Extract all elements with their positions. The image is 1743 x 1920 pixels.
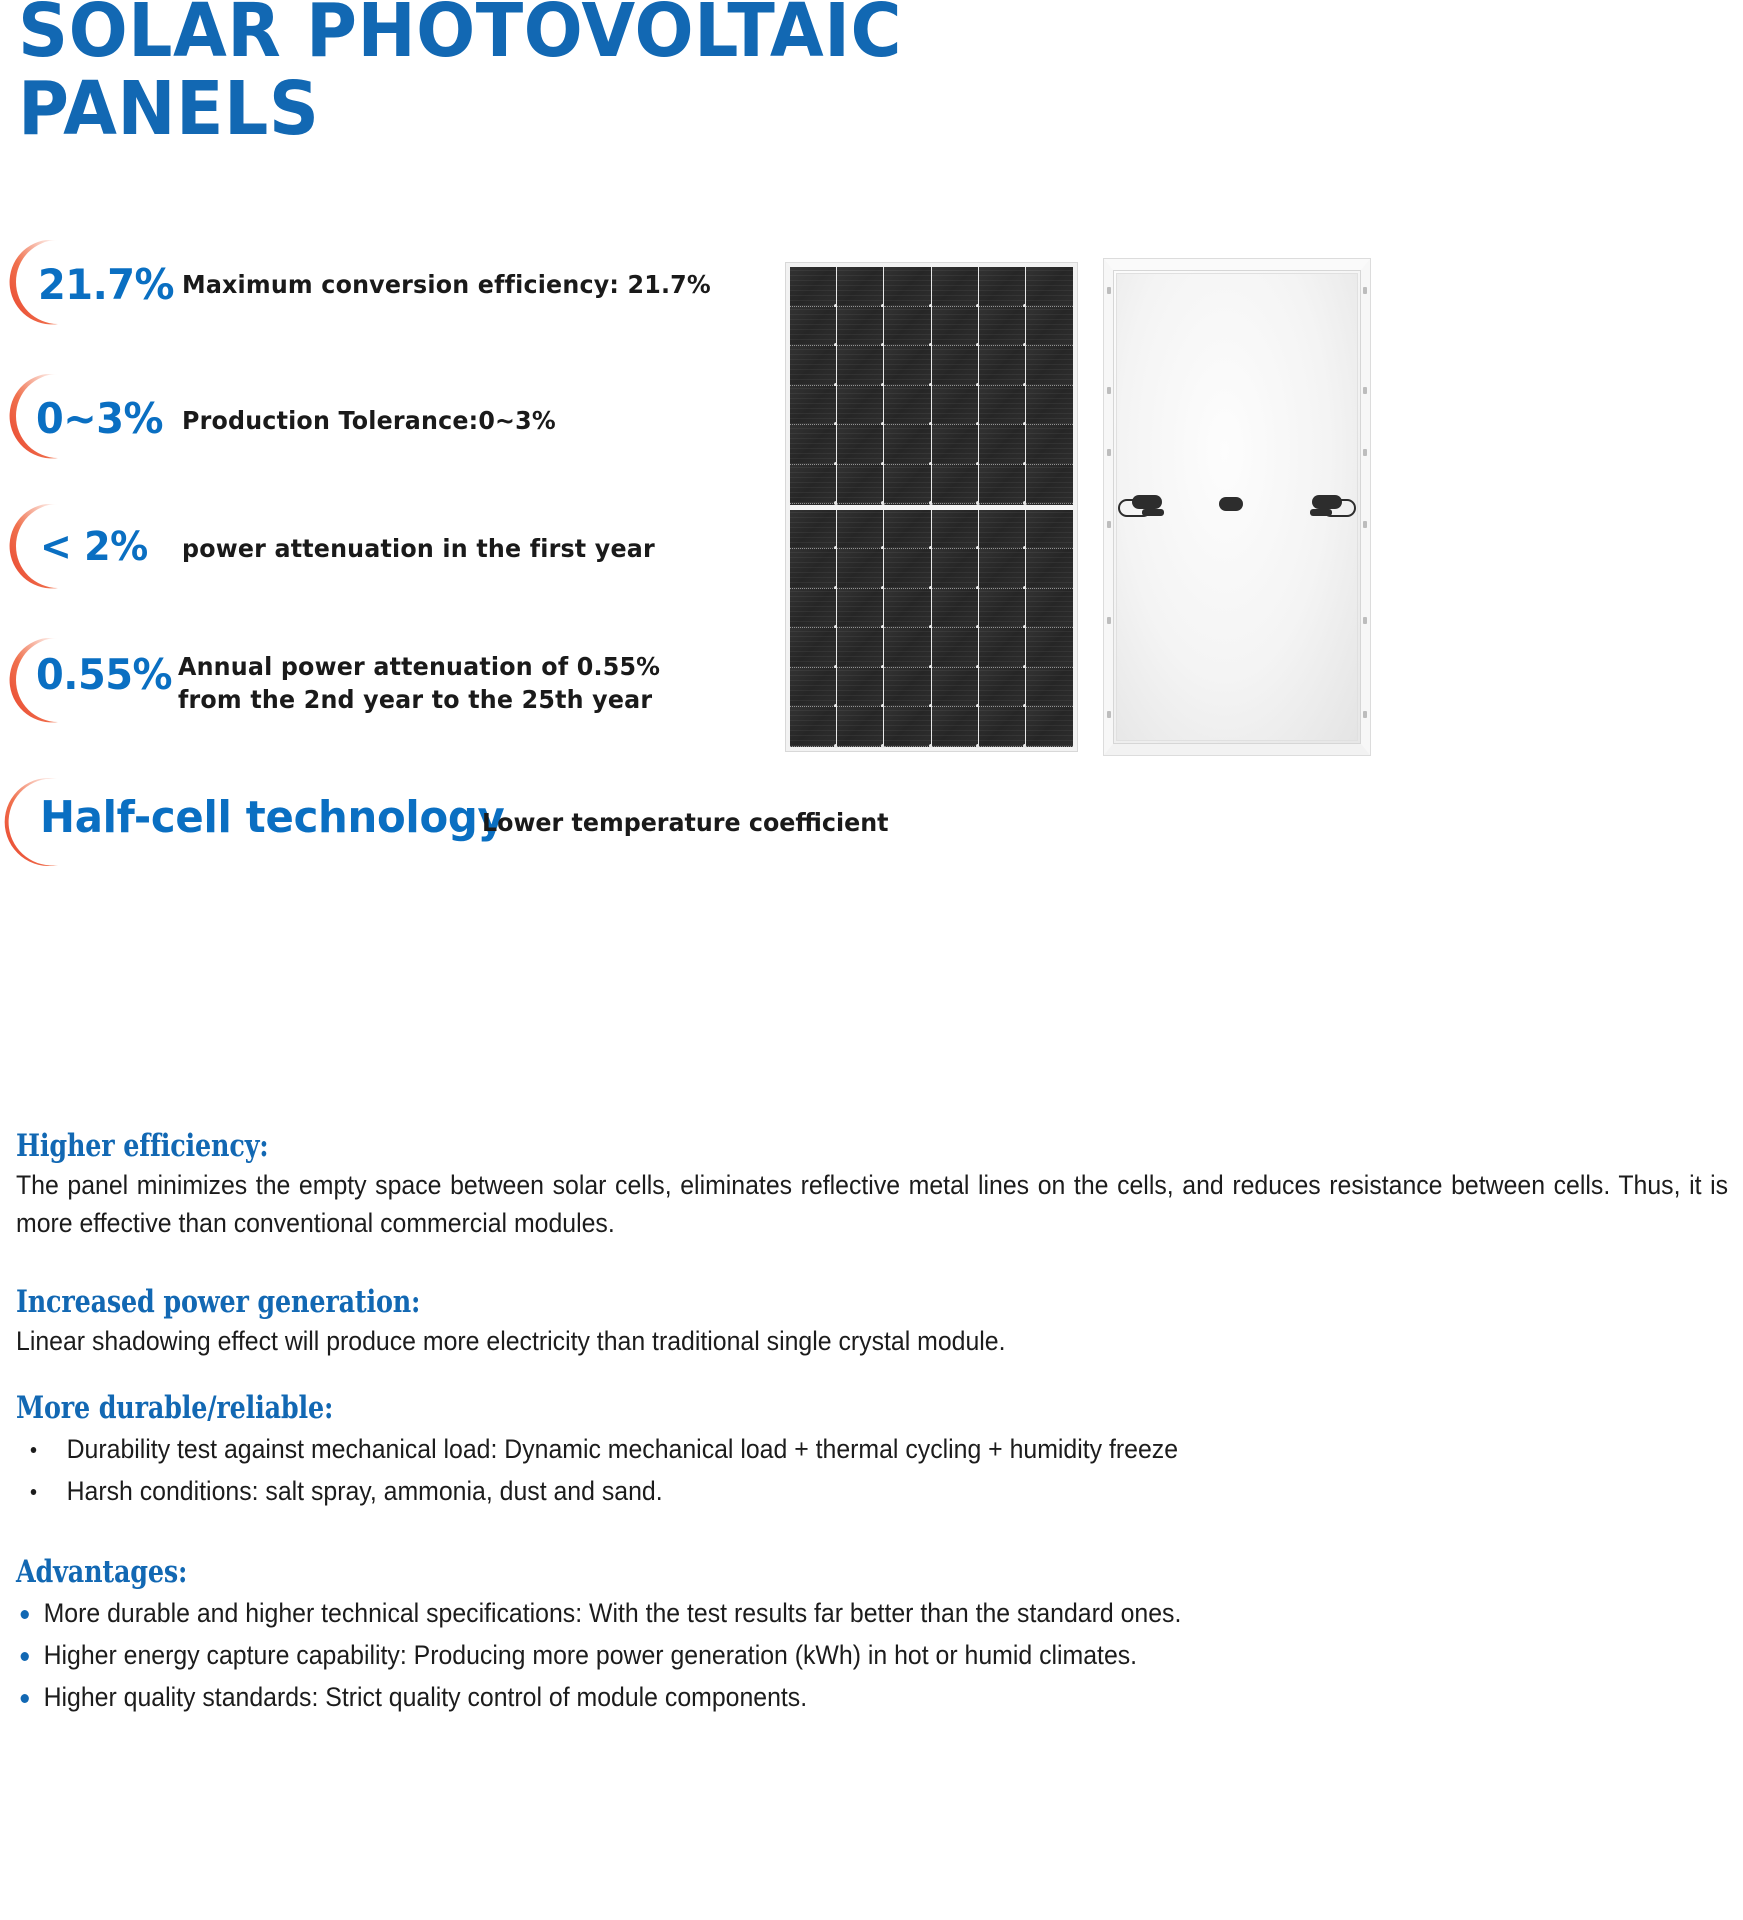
solar-cell <box>884 346 931 386</box>
frame-mounting-hole <box>1363 287 1367 294</box>
solar-cell <box>884 668 931 708</box>
solar-cell <box>932 510 979 550</box>
frame-mounting-hole <box>1107 617 1111 624</box>
junction-box-row <box>1104 491 1370 531</box>
frame-mounting-hole <box>1363 387 1367 394</box>
solar-cell <box>790 549 837 589</box>
solar-cell <box>884 465 931 505</box>
product-datasheet-page: SOLAR PHOTOVOLTAIC PANELS 21.7% Maximum <box>0 0 1743 1920</box>
section-paragraph: Linear shadowing effect will produce mor… <box>16 1322 1728 1360</box>
solar-cell <box>1026 549 1073 589</box>
solar-cell <box>1026 267 1073 307</box>
solar-cell <box>837 307 884 347</box>
section-heading: Higher efficiency: <box>16 1126 1420 1166</box>
solar-cell <box>837 589 884 629</box>
page-title: SOLAR PHOTOVOLTAIC PANELS <box>18 0 958 148</box>
junction-box-right <box>1312 495 1342 509</box>
solar-cell <box>837 346 884 386</box>
list-item: Harsh conditions: salt spray, ammonia, d… <box>16 1470 1728 1512</box>
spacer <box>16 1242 1728 1282</box>
frame-mounting-hole <box>1363 617 1367 624</box>
section-heading: More durable/reliable: <box>16 1388 1420 1428</box>
frame-mounting-hole <box>1107 387 1111 394</box>
solar-cell <box>932 465 979 505</box>
solar-cell <box>837 425 884 465</box>
solar-cell <box>790 465 837 505</box>
solar-cell <box>932 549 979 589</box>
solar-cell <box>837 510 884 550</box>
solar-cell <box>979 386 1026 426</box>
section-higher-efficiency: Higher efficiency: The panel minimizes t… <box>16 1126 1728 1242</box>
mc4-connector-right <box>1310 509 1332 516</box>
spec-value: 0~3% <box>36 394 163 443</box>
solar-cell <box>884 589 931 629</box>
solar-panel-back-image <box>1103 258 1371 756</box>
section-increased-power-generation: Increased power generation: Linear shado… <box>16 1282 1728 1360</box>
durability-bullet-list: Durability test against mechanical load:… <box>16 1428 1728 1512</box>
half-cell-title: Half-cell technology <box>40 792 505 843</box>
spec-value: 21.7% <box>38 260 174 309</box>
features-content: Higher efficiency: The panel minimizes t… <box>16 1126 1728 1718</box>
solar-cell <box>790 510 837 550</box>
panel-bottom-half <box>790 510 1073 748</box>
solar-cell <box>979 465 1026 505</box>
list-item: Higher energy capture capability: Produc… <box>16 1634 1728 1676</box>
solar-cell <box>884 425 931 465</box>
solar-cell <box>1026 589 1073 629</box>
solar-cell <box>979 707 1026 747</box>
section-paragraph: The panel minimizes the empty space betw… <box>16 1166 1728 1242</box>
junction-box-left <box>1132 495 1162 509</box>
advantages-bullet-list: More durable and higher technical specif… <box>16 1592 1728 1718</box>
solar-cell <box>884 307 931 347</box>
solar-cell <box>1026 707 1073 747</box>
solar-cell <box>932 589 979 629</box>
solar-cell <box>837 386 884 426</box>
list-item: More durable and higher technical specif… <box>16 1592 1728 1634</box>
solar-cell <box>979 425 1026 465</box>
mc4-connector-left <box>1142 509 1164 516</box>
solar-cell <box>979 346 1026 386</box>
list-item: Durability test against mechanical load:… <box>16 1428 1728 1470</box>
solar-cell <box>1026 307 1073 347</box>
solar-cell <box>932 346 979 386</box>
solar-cell <box>979 549 1026 589</box>
solar-cell <box>884 549 931 589</box>
solar-cell <box>979 510 1026 550</box>
panel-front-cells <box>790 267 1073 747</box>
solar-cell <box>837 707 884 747</box>
solar-cell <box>790 425 837 465</box>
solar-cell <box>837 628 884 668</box>
spec-description: power attenuation in the first year <box>182 532 655 565</box>
half-cell-subtitle: Lower temperature coefficient <box>482 808 888 837</box>
solar-cell <box>1026 628 1073 668</box>
solar-cell <box>1026 668 1073 708</box>
solar-cell <box>932 386 979 426</box>
solar-cell <box>979 307 1026 347</box>
solar-cell <box>932 628 979 668</box>
solar-cell <box>932 307 979 347</box>
solar-cell <box>979 668 1026 708</box>
solar-cell <box>790 386 837 426</box>
section-heading: Advantages: <box>16 1552 1420 1592</box>
spacer <box>16 1360 1728 1388</box>
solar-cell <box>884 628 931 668</box>
spec-description: Annual power attenuation of 0.55% from t… <box>178 650 660 716</box>
solar-cell <box>884 386 931 426</box>
solar-cell <box>932 267 979 307</box>
section-more-durable-reliable: More durable/reliable: Durability test a… <box>16 1388 1728 1512</box>
solar-cell <box>837 668 884 708</box>
solar-cell <box>932 668 979 708</box>
solar-cell <box>837 549 884 589</box>
solar-cell <box>1026 510 1073 550</box>
frame-mounting-hole <box>1107 449 1111 456</box>
solar-cell <box>1026 386 1073 426</box>
spec-description: Production Tolerance:0~3% <box>182 404 556 437</box>
spacer <box>16 1512 1728 1552</box>
solar-cell <box>790 589 837 629</box>
solar-cell <box>979 589 1026 629</box>
junction-box-center <box>1219 497 1243 511</box>
solar-cell <box>790 307 837 347</box>
list-item: Higher quality standards: Strict quality… <box>16 1676 1728 1718</box>
frame-mounting-hole <box>1107 287 1111 294</box>
panel-top-half <box>790 267 1073 510</box>
solar-cell <box>979 628 1026 668</box>
solar-cell <box>932 707 979 747</box>
solar-cell <box>790 668 837 708</box>
spec-value: < 2% <box>40 524 148 570</box>
frame-mounting-hole <box>1107 711 1111 718</box>
solar-cell <box>979 267 1026 307</box>
solar-cell <box>790 628 837 668</box>
solar-cell <box>884 510 931 550</box>
frame-mounting-hole <box>1363 449 1367 456</box>
section-heading: Increased power generation: <box>16 1282 1420 1322</box>
solar-cell <box>837 267 884 307</box>
solar-cell <box>790 346 837 386</box>
frame-mounting-hole <box>1363 711 1367 718</box>
solar-cell <box>790 707 837 747</box>
solar-cell <box>1026 465 1073 505</box>
solar-cell <box>932 425 979 465</box>
spec-description: Maximum conversion efficiency: 21.7% <box>182 268 711 301</box>
solar-cell <box>1026 425 1073 465</box>
solar-cell <box>884 707 931 747</box>
half-cell-technology-row: Half-cell technology Lower temperature c… <box>0 770 1000 880</box>
solar-cell <box>1026 346 1073 386</box>
solar-panel-front-image <box>785 262 1078 752</box>
solar-cell <box>837 465 884 505</box>
spec-value: 0.55% <box>36 650 172 699</box>
solar-cell <box>884 267 931 307</box>
section-advantages: Advantages: More durable and higher tech… <box>16 1552 1728 1718</box>
solar-cell <box>790 267 837 307</box>
